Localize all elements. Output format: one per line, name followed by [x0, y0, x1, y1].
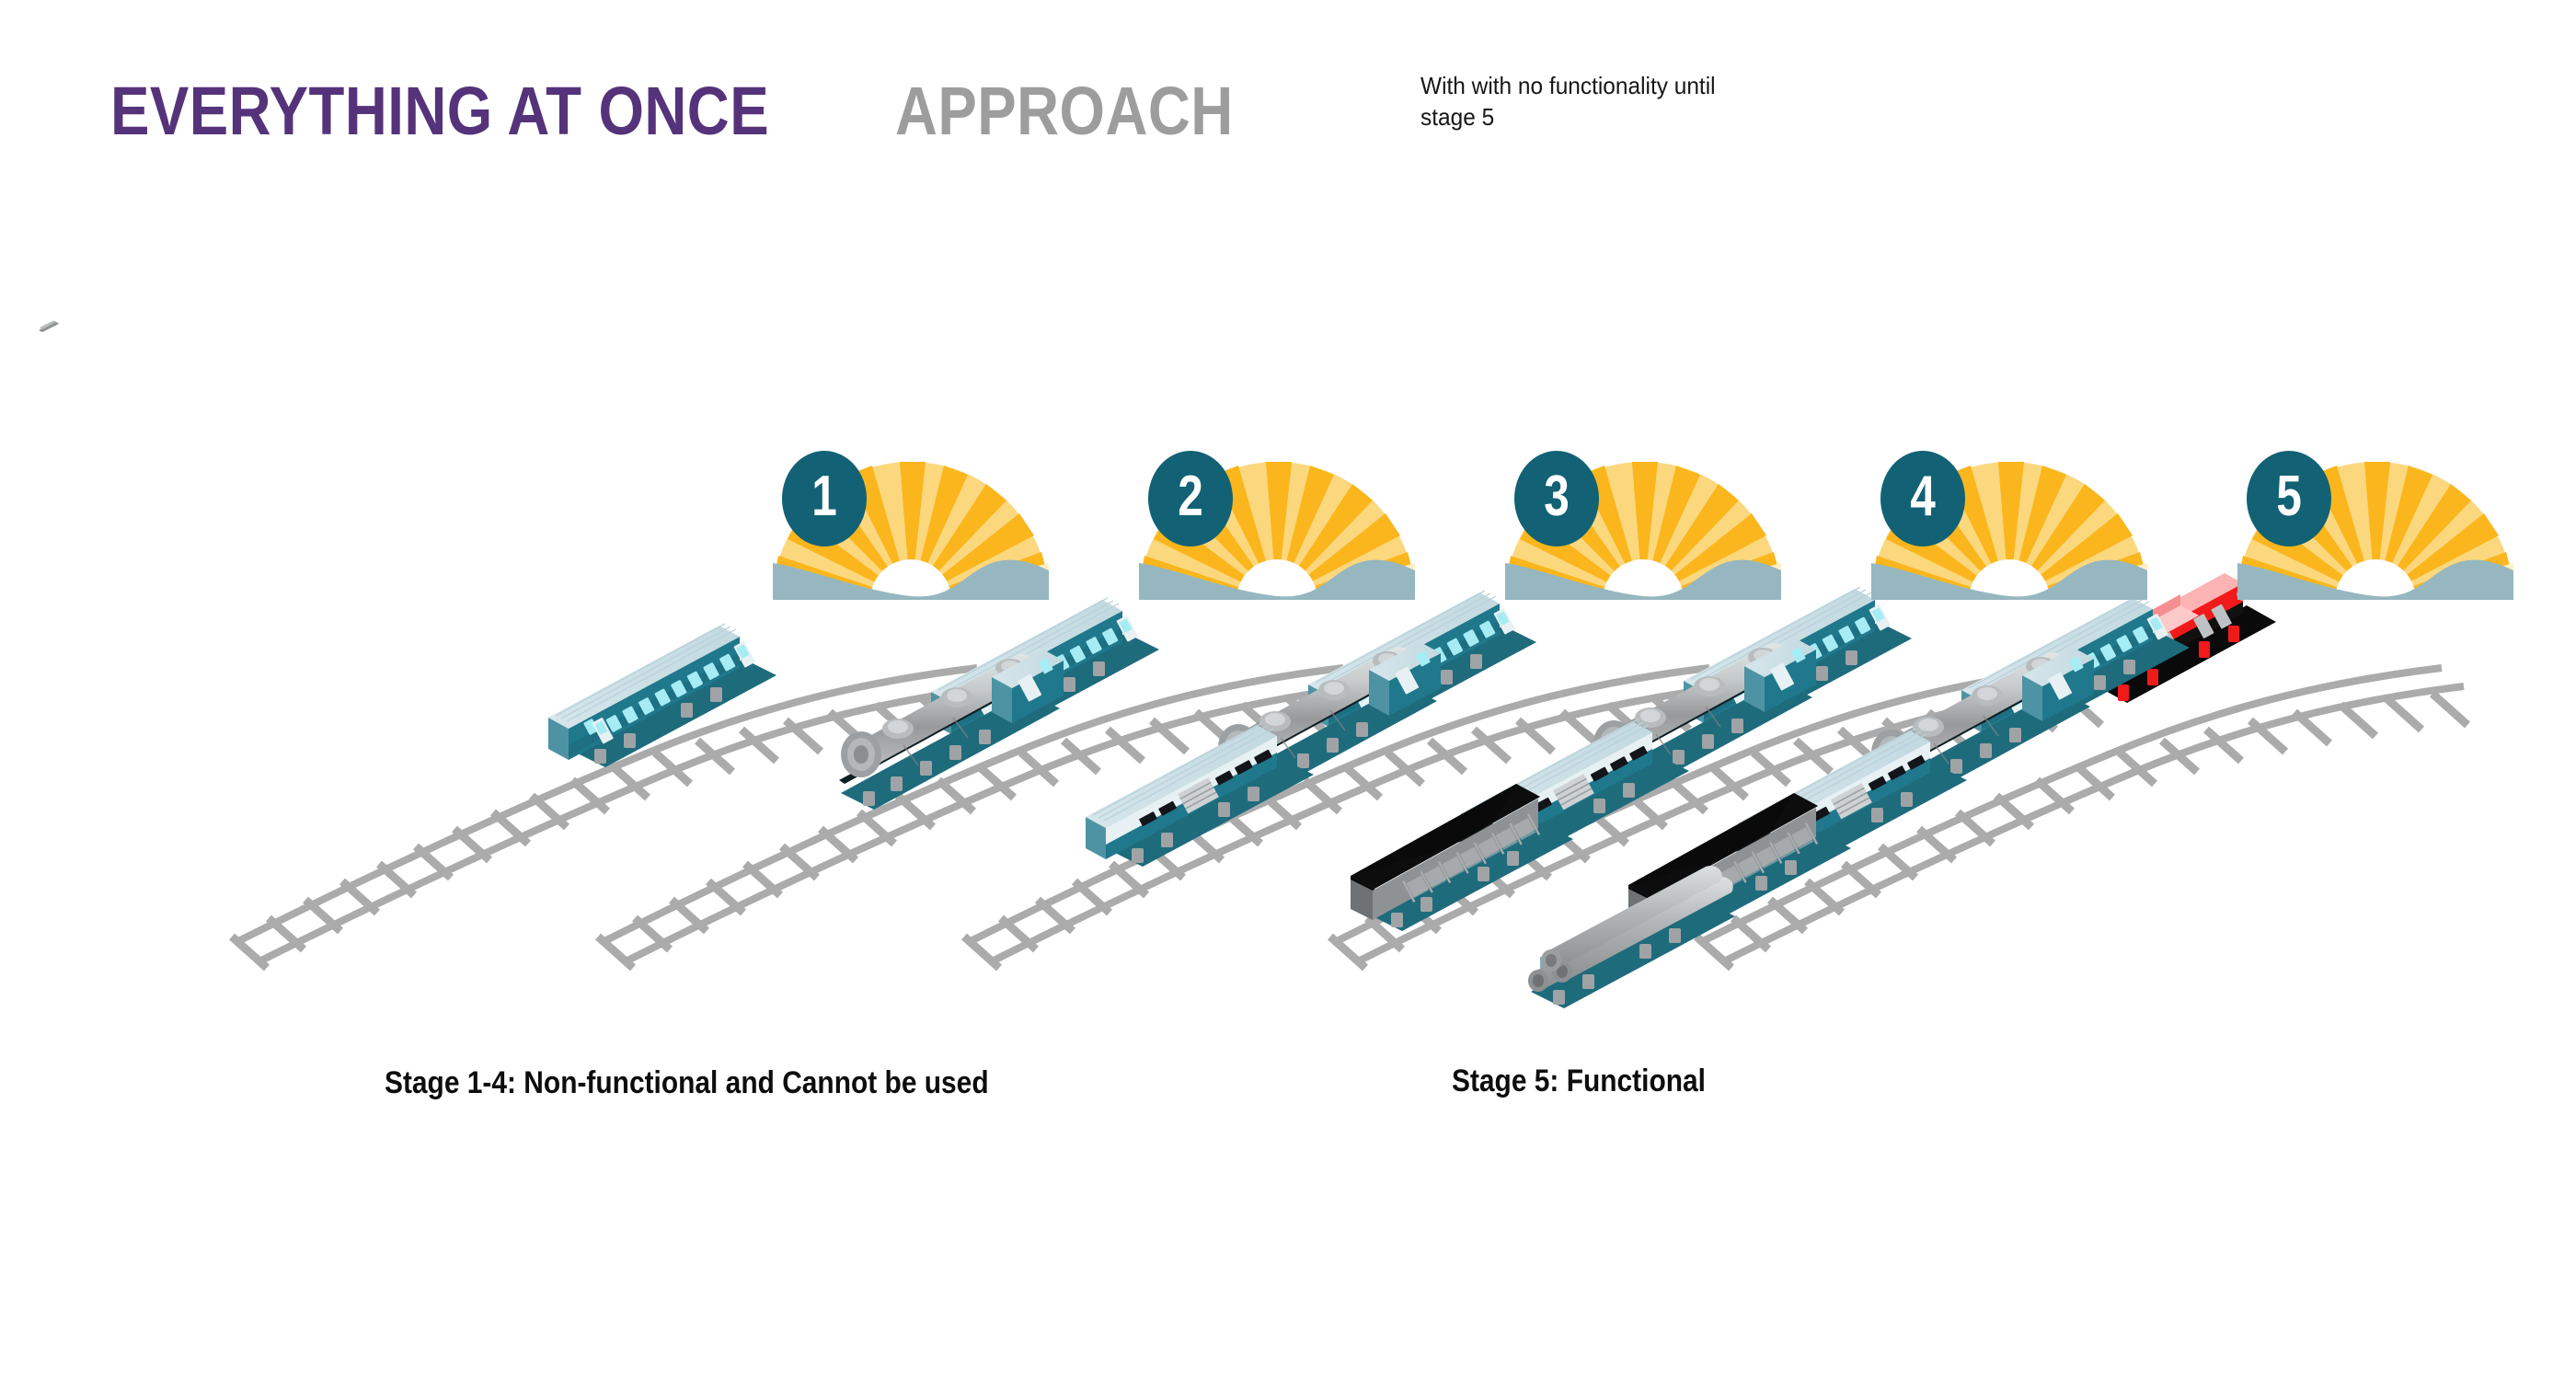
page-title-primary: EVERYTHING AT ONCE [110, 72, 769, 150]
stray-graphic-artifact [37, 320, 61, 333]
stage-badge-label: 4 [1889, 451, 1957, 546]
stage-badge-2[interactable]: 2 [1148, 451, 1233, 546]
stage-badge-label: 3 [1523, 451, 1591, 546]
diagram-canvas [0, 0, 2576, 1380]
stage-badge-4[interactable]: 4 [1880, 451, 1965, 546]
stage-badge-1[interactable]: 1 [782, 451, 867, 546]
page-subtitle: With with no functionality until stage 5 [1420, 70, 1741, 133]
stage-badge-5[interactable]: 5 [2247, 451, 2331, 546]
stage-badge-3[interactable]: 3 [1514, 451, 1599, 546]
page-header: EVERYTHING AT ONCE APPROACH With with no… [110, 72, 2502, 182]
page-title: EVERYTHING AT ONCE APPROACH [110, 72, 1289, 150]
page-title-secondary: APPROACH [895, 72, 1234, 150]
caption-stage-5: Stage 5: Functional [1452, 1064, 1706, 1099]
stage-badge-label: 5 [2255, 451, 2323, 546]
train-stages-illustration [0, 0, 2576, 1380]
caption-stages-1-4: Stage 1-4: Non-functional and Cannot be … [385, 1065, 989, 1101]
stage-badge-label: 2 [1156, 451, 1225, 546]
stage-badge-label: 1 [790, 451, 858, 546]
